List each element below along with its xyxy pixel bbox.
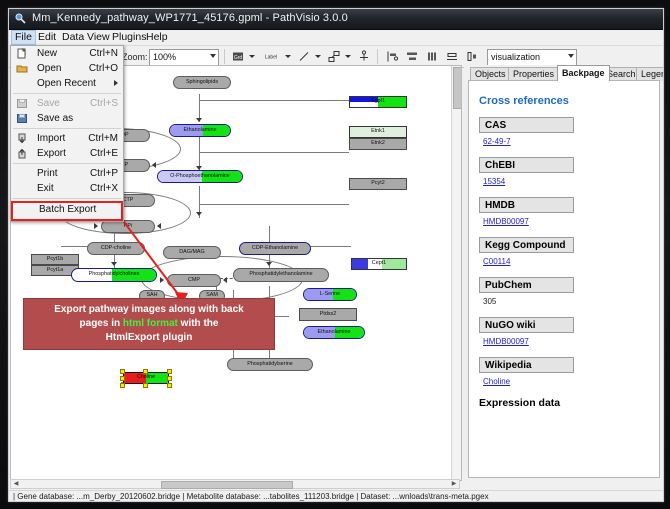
side-panel-tabstrip: Objects Properties Backpage Search Legen… [464,65,662,80]
file-menu-import-label: Import [37,133,65,144]
xref-label-pubchem: PubChem [479,277,574,293]
xref-value-nugo-wiki[interactable]: HMDB00097 [483,337,659,346]
xref-value-chebi[interactable]: 15354 [483,177,659,186]
pathvisio-window: Mm_Kennedy_pathway_WP1771_45176.gpml - P… [8,8,664,502]
status-bar: | Gene database: ...m_Derby_20120602.bri… [9,490,663,501]
anchor-tool-icon[interactable] [357,49,371,64]
xref-label-hmdb: HMDB [479,197,574,213]
xref-value-wikipedia[interactable]: Choline [483,377,659,386]
annotation-line-2-post: with the [178,318,219,329]
canvas-vertical-scrollbar[interactable] [451,66,461,480]
file-menu-popup[interactable]: New Ctrl+N Open Ctrl+O Open Recent Save … [10,45,124,222]
tab-properties[interactable]: Properties [508,67,559,81]
window-title: Mm_Kennedy_pathway_WP1771_45176.gpml - P… [32,12,348,24]
tab-legend[interactable]: Legend [636,67,664,81]
zoom-value: 100% [153,52,176,62]
file-menu-save: Save Ctrl+S [11,96,123,111]
svg-text:Label: Label [265,55,277,61]
annotation-line-2: pages in html format with the [30,317,268,331]
label-dropdown-icon[interactable] [285,55,291,58]
annotation-highlight: html format [123,318,178,329]
annotation-line-2-pre: pages in [80,318,123,329]
xref-label-kegg-compound: Kegg Compound [479,237,574,253]
line-tool-icon[interactable] [297,49,311,64]
file-menu-print-accel: Ctrl+P [90,166,118,181]
file-menu-exit-label: Exit [37,183,54,194]
menu-help[interactable]: Help [142,31,172,44]
file-menu-save-label: Save [37,98,60,109]
side-panel: Objects Properties Backpage Search Legen… [464,65,662,479]
tab-backpage[interactable]: Backpage [557,65,610,81]
group-icon[interactable] [465,49,479,64]
align-left-icon[interactable] [385,49,399,64]
file-menu-exit-accel: Ctrl+X [90,181,118,196]
visualization-combobox[interactable]: visualization [487,49,577,66]
file-menu-new[interactable]: New Ctrl+N [11,46,123,61]
new-file-icon [16,48,28,59]
canvas-vscroll-thumb[interactable] [453,67,462,109]
file-menu-open-accel: Ctrl+O [89,61,118,76]
xref-value-pubchem: 305 [483,297,659,306]
zoom-combobox[interactable]: 100% [149,49,219,66]
title-bar: Mm_Kennedy_pathway_WP1771_45176.gpml - P… [9,9,663,30]
file-menu-print[interactable]: Print Ctrl+P [11,166,123,181]
interaction-dropdown-icon[interactable] [345,55,351,58]
screenshot-root: Mm_Kennedy_pathway_WP1771_45176.gpml - P… [0,0,670,509]
interaction-tool-icon[interactable] [327,49,341,64]
canvas-hscroll-thumb[interactable] [161,481,293,489]
open-folder-icon [16,63,28,74]
tab-objects[interactable]: Objects [470,67,511,81]
file-menu-open-recent[interactable]: Open Recent [11,76,123,91]
file-menu-print-label: Print [37,168,58,179]
scroll-left-arrow-icon[interactable]: ◀ [11,480,21,488]
menu-bar: File Edit Data View Plugins Help [9,30,663,46]
label-tool-icon[interactable]: Label [261,49,281,64]
file-menu-export-accel: Ctrl+E [90,146,118,161]
file-menu-open-label: Open [37,63,61,74]
zoom-label: Zoom: [122,52,148,62]
scroll-right-arrow-icon[interactable]: ▶ [449,480,459,488]
file-menu-open[interactable]: Open Ctrl+O [11,61,123,76]
file-menu-save-as-label: Save as [37,113,73,124]
file-menu-batch-export[interactable]: Batch Export [11,201,123,221]
xref-value-hmdb[interactable]: HMDB00097 [483,217,659,226]
expression-data-heading: Expression data [479,397,659,409]
grid-dropdown-icon[interactable] [249,55,255,58]
file-menu-separator-3 [13,163,121,164]
annotation-callout: Export pathway images along with back pa… [23,298,275,350]
file-menu-save-as[interactable]: Save as [11,111,123,126]
xref-label-chebi: ChEBI [479,157,574,173]
file-menu-new-label: New [37,48,57,59]
import-icon [16,133,28,144]
xref-label-wikipedia: Wikipedia [479,357,574,373]
toolbar-separator-3 [377,49,378,64]
menu-file[interactable]: File [11,30,36,45]
chevron-down-icon-2 [568,54,574,58]
file-menu-separator-1 [13,93,121,94]
pathvisio-icon [15,13,27,25]
file-menu-open-recent-label: Open Recent [37,78,96,89]
annotation-line-3: HtmlExport plugin [30,331,268,345]
file-menu-export[interactable]: Export Ctrl+E [11,146,123,161]
menu-edit[interactable]: Edit [34,31,60,44]
xref-value-cas[interactable]: 62-49-7 [483,137,659,146]
file-menu-new-accel: Ctrl+N [89,46,118,61]
file-menu-export-label: Export [37,148,66,159]
line-dropdown-icon[interactable] [315,55,321,58]
submenu-arrow-icon [114,80,118,86]
xref-label-cas: CAS [479,117,574,133]
export-icon [16,148,28,159]
distribute-icon[interactable] [425,49,439,64]
xref-label-nugo-wiki: NuGO wiki [479,317,574,333]
file-menu-import-accel: Ctrl+M [88,131,118,146]
xref-value-kegg-compound[interactable]: C00114 [483,257,659,266]
save-disk-icon [16,98,28,109]
backpage-content: Cross references CAS 62-49-7 ChEBI 15354… [468,80,660,478]
file-menu-exit[interactable]: Exit Ctrl+X [11,181,123,196]
annotation-line-1: Export pathway images along with back [30,303,268,317]
save-as-icon [16,113,28,124]
file-menu-separator-4 [13,198,121,199]
align-center-icon[interactable] [405,49,419,64]
file-menu-save-accel: Ctrl+S [90,96,118,111]
grid-toggle-icon[interactable]: Grd [231,49,245,64]
stack-icon[interactable] [445,49,459,64]
svg-text:Grd: Grd [234,55,243,61]
chevron-down-icon [210,54,216,58]
file-menu-separator-2 [13,128,121,129]
file-menu-import[interactable]: Import Ctrl+M [11,131,123,146]
canvas-horizontal-scrollbar[interactable]: ◀ ▶ [10,479,460,489]
cross-references-heading: Cross references [479,95,659,107]
visualization-value: visualization [491,52,540,62]
toolbar-separator-2 [224,49,225,64]
file-menu-batch-export-label: Batch Export [39,204,96,215]
